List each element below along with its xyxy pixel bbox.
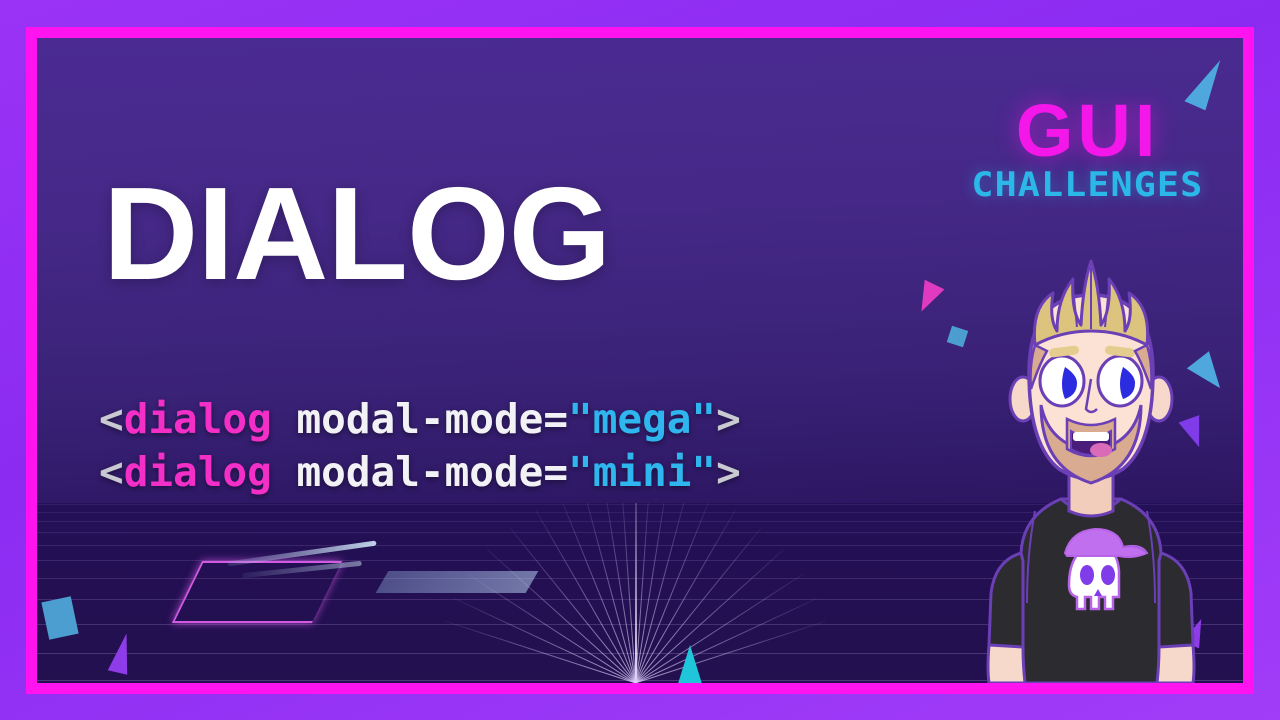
code-tag-name: dialog bbox=[124, 395, 272, 443]
code-line-1: <dialog modal-mode="mega"> bbox=[99, 395, 741, 443]
code-close-bracket: > bbox=[716, 395, 741, 443]
code-open-bracket: < bbox=[99, 448, 124, 496]
slide-canvas: DIALOG <dialog modal-mode="mega"> <dialo… bbox=[0, 0, 1280, 720]
code-close-bracket: > bbox=[716, 448, 741, 496]
confetti-cyan-triangle-floor bbox=[677, 645, 703, 683]
logo-challenges-text: CHALLENGES bbox=[972, 168, 1204, 202]
brand-logo: GUI CHALLENGES bbox=[980, 96, 1195, 202]
neon-frame-border: DIALOG <dialog modal-mode="mega"> <dialo… bbox=[26, 27, 1254, 694]
avatar bbox=[961, 253, 1221, 683]
code-open-bracket: < bbox=[99, 395, 124, 443]
code-attr-value: "mega" bbox=[568, 395, 716, 443]
code-space bbox=[272, 395, 297, 443]
glow-plate-1 bbox=[376, 571, 539, 593]
confetti-blue-triangle-top-right bbox=[1184, 54, 1226, 111]
code-attr-name: modal-mode= bbox=[296, 395, 568, 443]
logo-gui-text: GUI bbox=[980, 96, 1195, 166]
slide-panel: DIALOG <dialog modal-mode="mega"> <dialo… bbox=[37, 38, 1243, 683]
confetti-magenta-triangle bbox=[912, 280, 945, 317]
code-tag-name: dialog bbox=[124, 448, 272, 496]
code-attr-name: modal-mode= bbox=[296, 448, 568, 496]
code-attr-value: "mini" bbox=[568, 448, 716, 496]
code-line-2: <dialog modal-mode="mini"> bbox=[99, 448, 741, 496]
confetti-blue-square-floor-left bbox=[41, 596, 78, 639]
confetti-purple-triangle-floor-left bbox=[108, 631, 136, 674]
code-space bbox=[272, 448, 297, 496]
page-title: DIALOG bbox=[103, 168, 610, 300]
code-snippet: <dialog modal-mode="mega"> <dialog modal… bbox=[99, 393, 741, 500]
